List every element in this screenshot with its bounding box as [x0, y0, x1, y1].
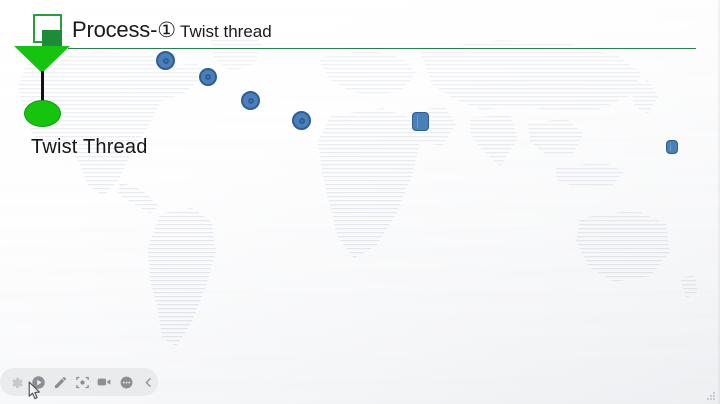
title-circled-number: ① — [157, 19, 176, 42]
title-underline-rule — [68, 48, 696, 49]
slide-caption: Twist Thread — [31, 136, 148, 159]
map-marker-6 — [666, 140, 678, 154]
map-marker-3 — [241, 91, 260, 110]
slide-canvas: Process-①Twist thread Twist Thread — [0, 0, 720, 404]
pencil-icon[interactable] — [50, 372, 70, 393]
focus-frame-icon[interactable] — [72, 372, 92, 393]
resize-grip[interactable] — [707, 392, 716, 401]
player-control-bar[interactable] — [0, 368, 158, 396]
map-marker-2 — [199, 68, 217, 86]
gear-icon[interactable] — [6, 372, 26, 393]
continent-shapes — [18, 30, 698, 346]
map-marker-5 — [412, 112, 429, 131]
more-dots-icon[interactable] — [116, 372, 136, 393]
video-camera-icon[interactable] — [94, 372, 114, 393]
green-funnel-logo — [8, 8, 78, 133]
map-marker-4 — [292, 111, 311, 130]
play-circle-icon[interactable] — [28, 372, 48, 393]
map-marker-1 — [156, 51, 175, 70]
logo-ellipse — [24, 100, 61, 127]
title-subtitle-text: Twist thread — [180, 22, 272, 41]
world-map-backdrop — [0, 0, 720, 404]
title-main-text: Process- — [72, 17, 157, 42]
logo-triangle-icon — [14, 46, 70, 73]
chevron-left-icon[interactable] — [138, 372, 158, 393]
